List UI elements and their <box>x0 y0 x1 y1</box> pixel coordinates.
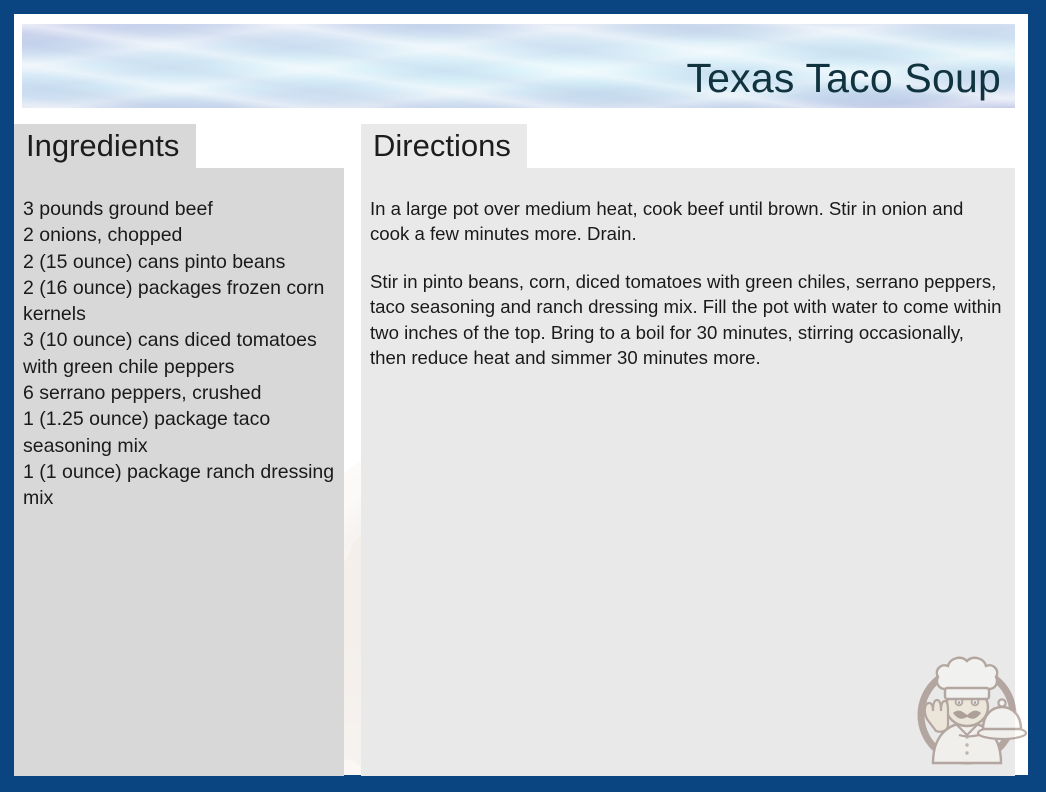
header-banner: Texas Taco Soup <box>22 24 1015 108</box>
ingredient-item: 3 (10 ounce) cans diced tomatoes with gr… <box>23 327 336 380</box>
ingredient-item: 1 (1.25 ounce) package taco seasoning mi… <box>23 406 336 459</box>
ingredient-item: 6 serrano peppers, crushed <box>23 380 336 406</box>
recipe-slide: Texas Taco Soup Ingredients 3 pounds gro… <box>0 0 1046 792</box>
ingredient-item: 2 onions, chopped <box>23 222 336 248</box>
ingredients-list: 3 pounds ground beef2 onions, chopped2 (… <box>14 168 344 512</box>
ingredient-item: 1 (1 ounce) package ranch dressing mix <box>23 459 336 512</box>
border-left <box>0 0 14 792</box>
direction-paragraph: In a large pot over medium heat, cook be… <box>370 196 1003 247</box>
directions-paragraphs: In a large pot over medium heat, cook be… <box>361 168 1015 370</box>
ingredient-item: 2 (16 ounce) packages frozen corn kernel… <box>23 275 336 328</box>
border-top <box>0 0 1046 14</box>
ingredient-item: 2 (15 ounce) cans pinto beans <box>23 249 336 275</box>
directions-tab: Directions <box>361 124 527 168</box>
directions-heading: Directions <box>373 128 511 164</box>
chef-logo <box>903 645 1031 773</box>
ingredients-heading: Ingredients <box>26 128 179 164</box>
ingredient-item: 3 pounds ground beef <box>23 196 336 222</box>
border-bottom <box>0 775 1046 792</box>
page-title: Texas Taco Soup <box>686 55 1001 102</box>
direction-paragraph: Stir in pinto beans, corn, diced tomatoe… <box>370 269 1003 371</box>
ingredients-tab: Ingredients <box>14 124 196 168</box>
ingredients-panel: Ingredients 3 pounds ground beef2 onions… <box>14 124 344 776</box>
ingredients-body: 3 pounds ground beef2 onions, chopped2 (… <box>14 168 344 776</box>
